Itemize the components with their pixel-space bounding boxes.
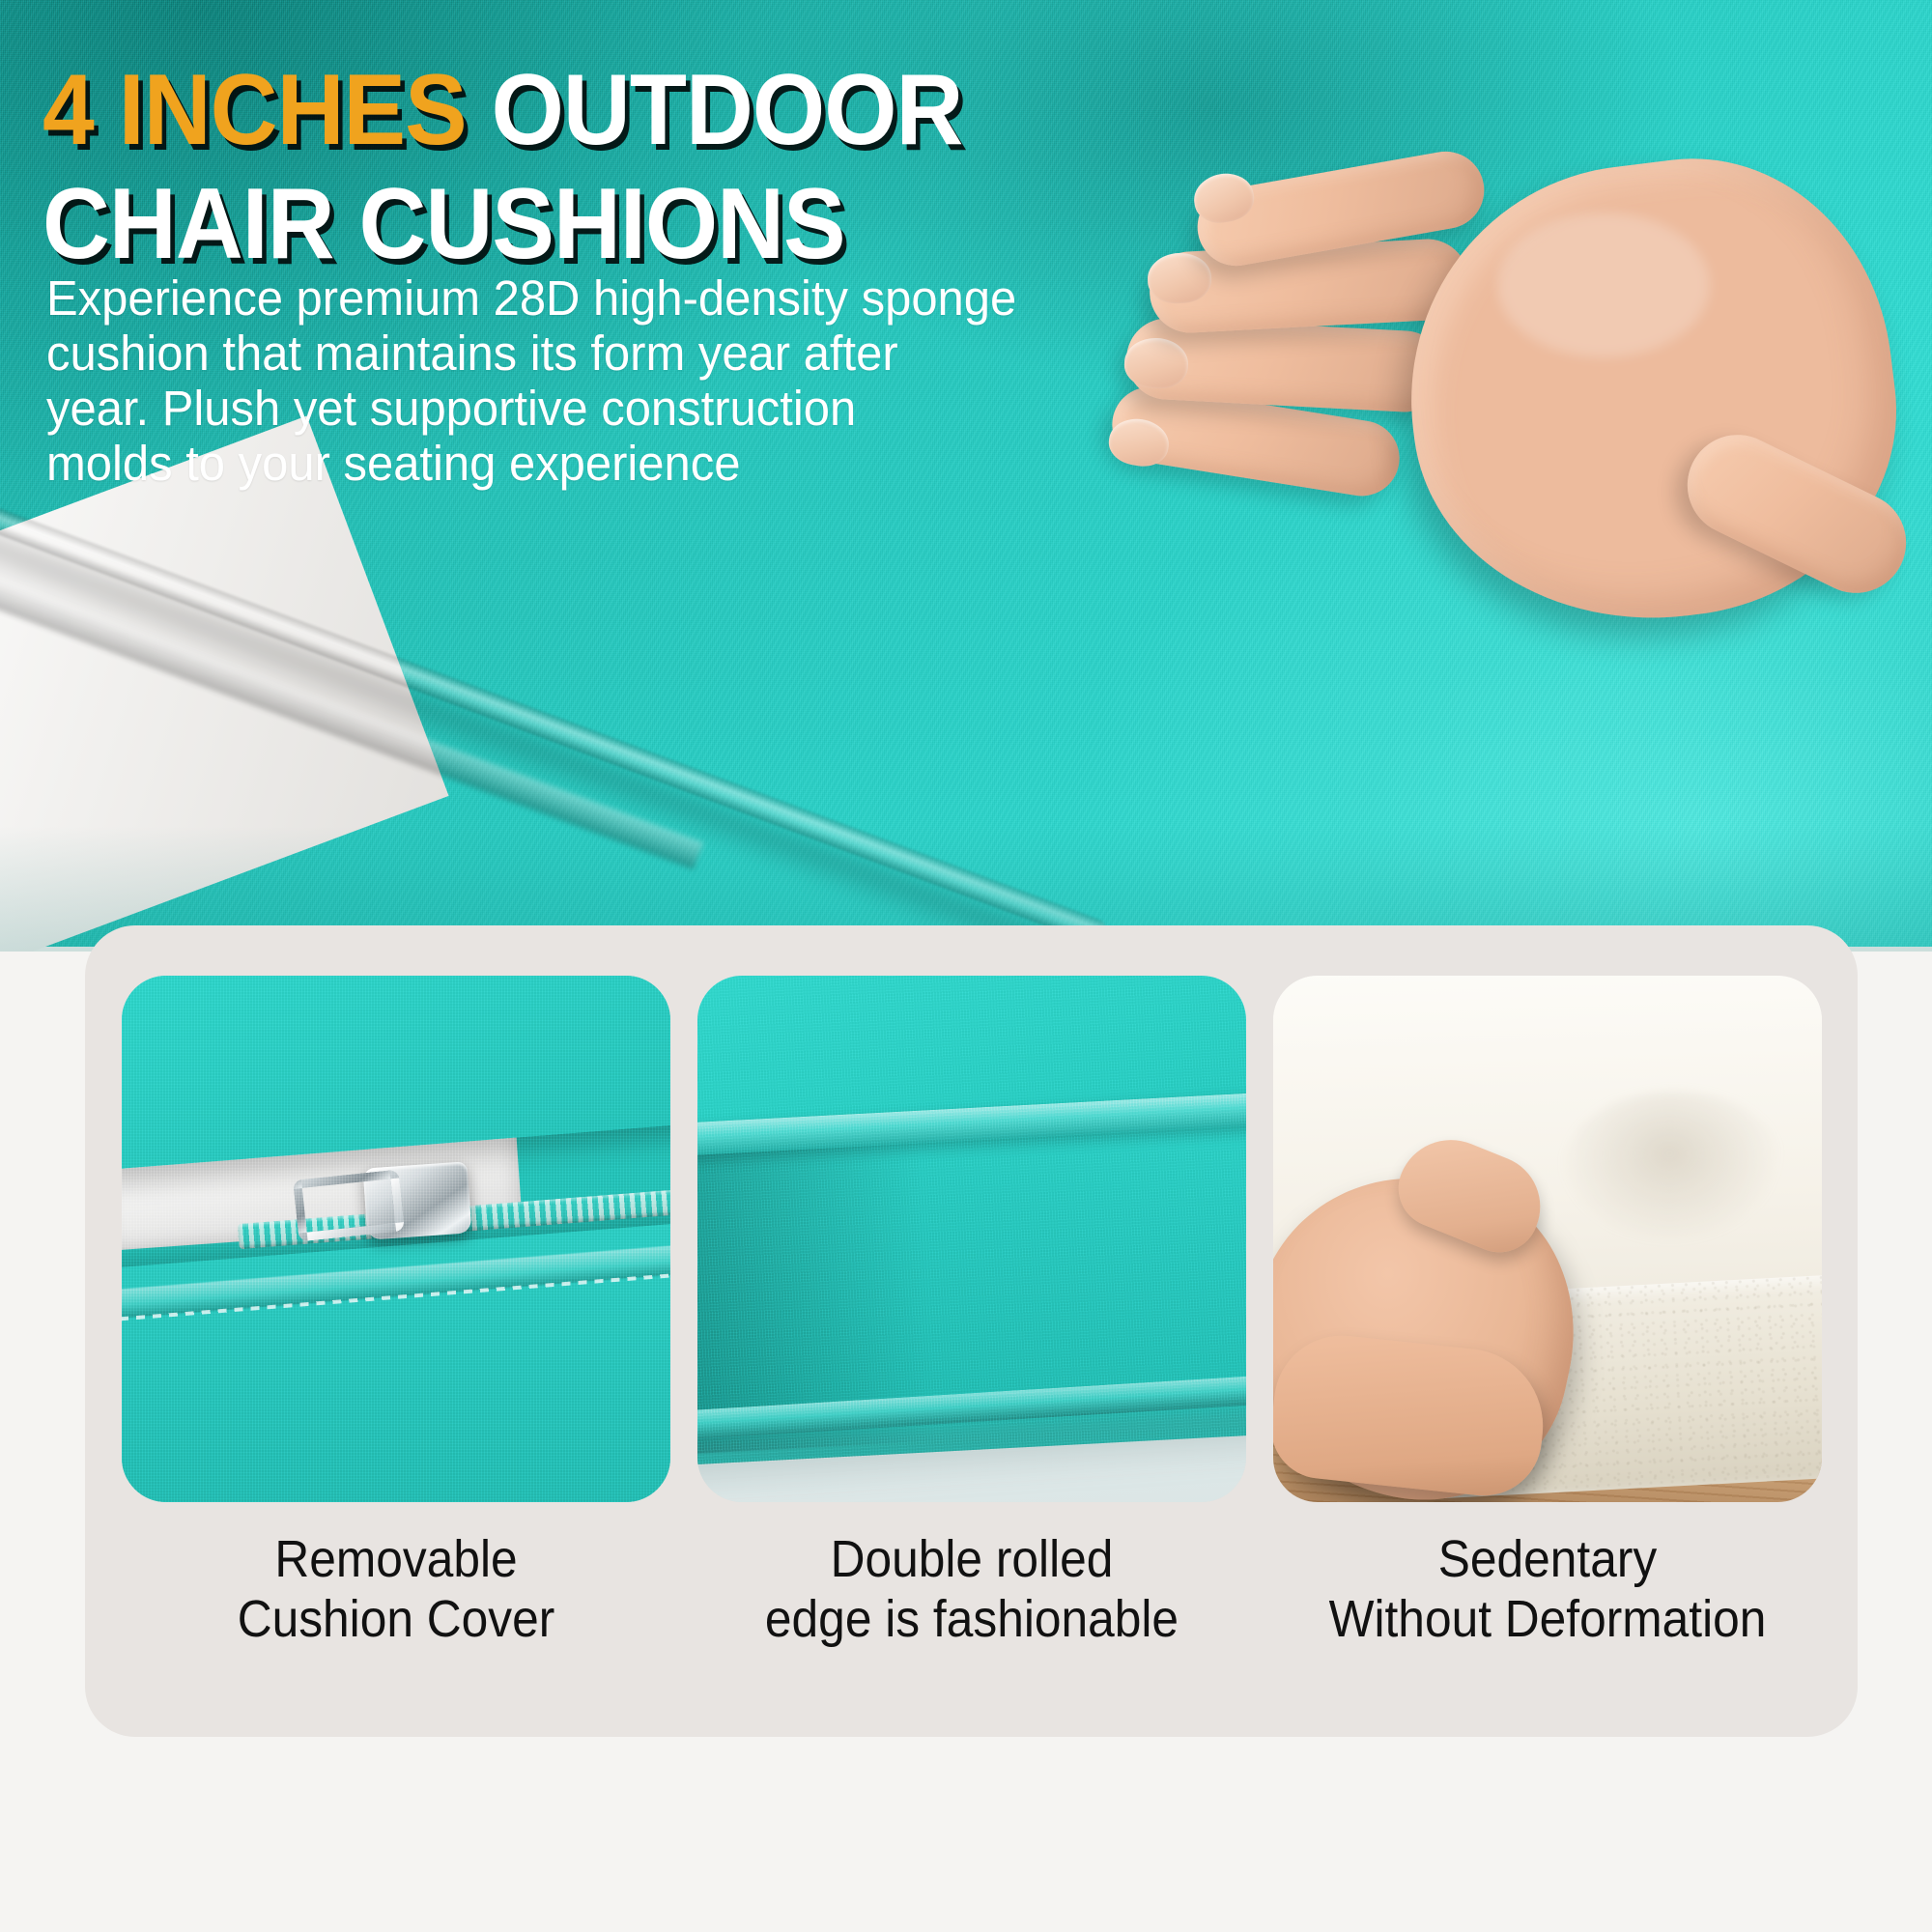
description-line-1: Experience premium 28D high-density spon… bbox=[46, 270, 983, 326]
caption-sedentary-without-deformation: Sedentary Without Deformation bbox=[1295, 1529, 1801, 1703]
description-line-4: molds to your seating experience bbox=[46, 436, 983, 491]
feature-panel: Removable Cushion Cover Double rolled ed… bbox=[85, 925, 1858, 1737]
headline-line-1-rest: OUTDOOR bbox=[492, 54, 963, 166]
caption-3-line-1: Sedentary bbox=[1295, 1529, 1801, 1589]
headline-line-1: 4 INCHES OUTDOOR bbox=[43, 60, 1085, 160]
feature-card-rolled-edge bbox=[697, 976, 1246, 1502]
hero-description: Experience premium 28D high-density spon… bbox=[46, 270, 983, 491]
headline-line-2: CHAIR CUSHIONS bbox=[43, 174, 1085, 274]
caption-2-line-1: Double rolled bbox=[720, 1529, 1225, 1589]
description-line-3: year. Plush yet supportive construction bbox=[46, 381, 983, 436]
feature-card-images bbox=[122, 976, 1822, 1502]
hand-squeezing-foam bbox=[1273, 1121, 1640, 1502]
caption-removable-cushion-cover: Removable Cushion Cover bbox=[144, 1529, 649, 1703]
palm-highlight bbox=[1497, 213, 1710, 357]
headline-block: 4 INCHES OUTDOOR CHAIR CUSHIONS bbox=[43, 60, 1163, 274]
feature-card-zipper bbox=[122, 976, 670, 1502]
product-marketing-image: 4 INCHES OUTDOOR CHAIR CUSHIONS Experien… bbox=[0, 0, 1932, 1932]
caption-double-rolled-edge: Double rolled edge is fashionable bbox=[720, 1529, 1225, 1703]
caption-3-line-2: Without Deformation bbox=[1295, 1589, 1801, 1649]
zipper-card-weave-texture bbox=[122, 976, 670, 1502]
caption-2-line-2: edge is fashionable bbox=[720, 1589, 1225, 1649]
headline-accent: 4 INCHES bbox=[43, 54, 467, 166]
feature-card-foam bbox=[1273, 976, 1822, 1502]
rolled-edge-weave-texture bbox=[697, 976, 1246, 1468]
caption-1-line-2: Cushion Cover bbox=[144, 1589, 649, 1649]
feature-captions: Removable Cushion Cover Double rolled ed… bbox=[122, 1529, 1822, 1703]
description-line-2: cushion that maintains its form year aft… bbox=[46, 326, 983, 381]
caption-1-line-1: Removable bbox=[144, 1529, 649, 1589]
hand-pressing-cushion bbox=[1092, 145, 1932, 744]
hero-section: 4 INCHES OUTDOOR CHAIR CUSHIONS Experien… bbox=[0, 0, 1932, 952]
